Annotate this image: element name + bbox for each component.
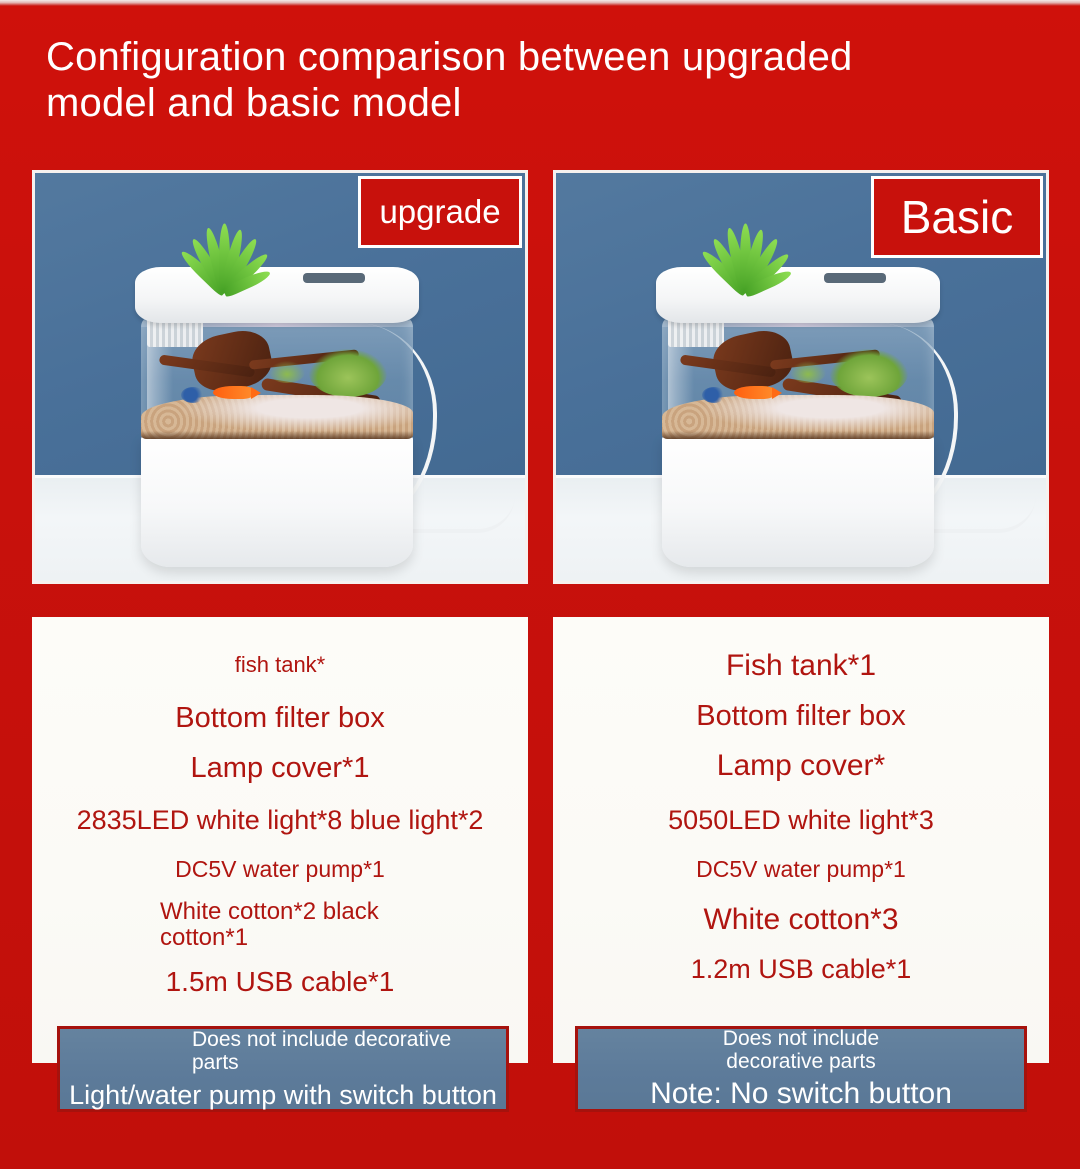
lid-slot — [824, 273, 886, 283]
note-line-1: Does not include decorative parts — [60, 1028, 506, 1074]
tank-glass — [141, 309, 413, 439]
badge-label: upgrade — [379, 193, 500, 231]
product-photo-basic: Basic — [553, 170, 1049, 584]
spec-item: Bottom filter box — [567, 700, 1035, 732]
spec-item: fish tank* — [46, 653, 514, 678]
aquatic-plant — [269, 361, 305, 383]
column-basic: Basic Fish tank*1 Bottom filter box Lamp… — [553, 170, 1049, 1145]
spec-item: DC5V water pump*1 — [46, 857, 514, 883]
aquatic-plant — [790, 361, 826, 383]
spec-item: Bottom filter box — [46, 702, 514, 734]
tank-base — [141, 435, 413, 567]
tank-base — [662, 435, 934, 567]
badge-label: Basic — [901, 190, 1013, 244]
orange-fish-icon — [213, 386, 253, 399]
spec-item: 5050LED white light*3 — [567, 805, 1035, 835]
gravel-shadow — [141, 431, 413, 439]
note-line-2: Note: No switch button — [578, 1077, 1024, 1111]
spec-item: White cotton*2 black cotton*1 — [46, 899, 514, 953]
fish-tank — [648, 267, 948, 567]
tank-glass — [662, 309, 934, 439]
aquatic-plant — [309, 349, 387, 397]
blue-decoration — [702, 387, 726, 403]
note-box-basic: Does not include decorative parts Note: … — [575, 1026, 1027, 1112]
top-edge-highlight — [0, 0, 1080, 6]
blue-decoration — [181, 387, 205, 403]
page-title: Configuration comparison between upgrade… — [46, 34, 1036, 126]
lid-slot — [303, 273, 365, 283]
spec-card-basic: Fish tank*1 Bottom filter box Lamp cover… — [553, 617, 1049, 1063]
spec-item: 1.2m USB cable*1 — [567, 954, 1035, 984]
aquatic-plant — [830, 349, 908, 397]
badge-upgrade: upgrade — [358, 176, 522, 248]
spec-item: DC5V water pump*1 — [567, 857, 1035, 883]
badge-basic: Basic — [871, 176, 1043, 258]
plant-on-lid-icon — [680, 201, 800, 297]
orange-fish-icon — [734, 386, 774, 399]
product-photo-upgraded: upgrade — [32, 170, 528, 584]
spec-item: 1.5m USB cable*1 — [46, 966, 514, 997]
fish-tank — [127, 267, 427, 567]
comparison-page: Configuration comparison between upgrade… — [0, 0, 1080, 1169]
spec-item: 2835LED white light*8 blue light*2 — [46, 805, 514, 835]
spec-item: Lamp cover* — [567, 749, 1035, 783]
spec-card-upgraded: fish tank* Bottom filter box Lamp cover*… — [32, 617, 528, 1063]
plant-on-lid-icon — [159, 201, 279, 297]
spec-item: Lamp cover*1 — [46, 752, 514, 784]
column-upgraded: upgrade fish tank* Bottom filter box Lam… — [32, 170, 528, 1145]
spec-item: Fish tank*1 — [567, 649, 1035, 683]
note-box-upgraded: Does not include decorative parts Light/… — [57, 1026, 509, 1112]
spec-item: White cotton*3 — [567, 903, 1035, 937]
note-line-2: Light/water pump with switch button — [60, 1080, 506, 1110]
gravel-shadow — [662, 431, 934, 439]
note-line-1: Does not include decorative parts — [578, 1027, 1024, 1073]
